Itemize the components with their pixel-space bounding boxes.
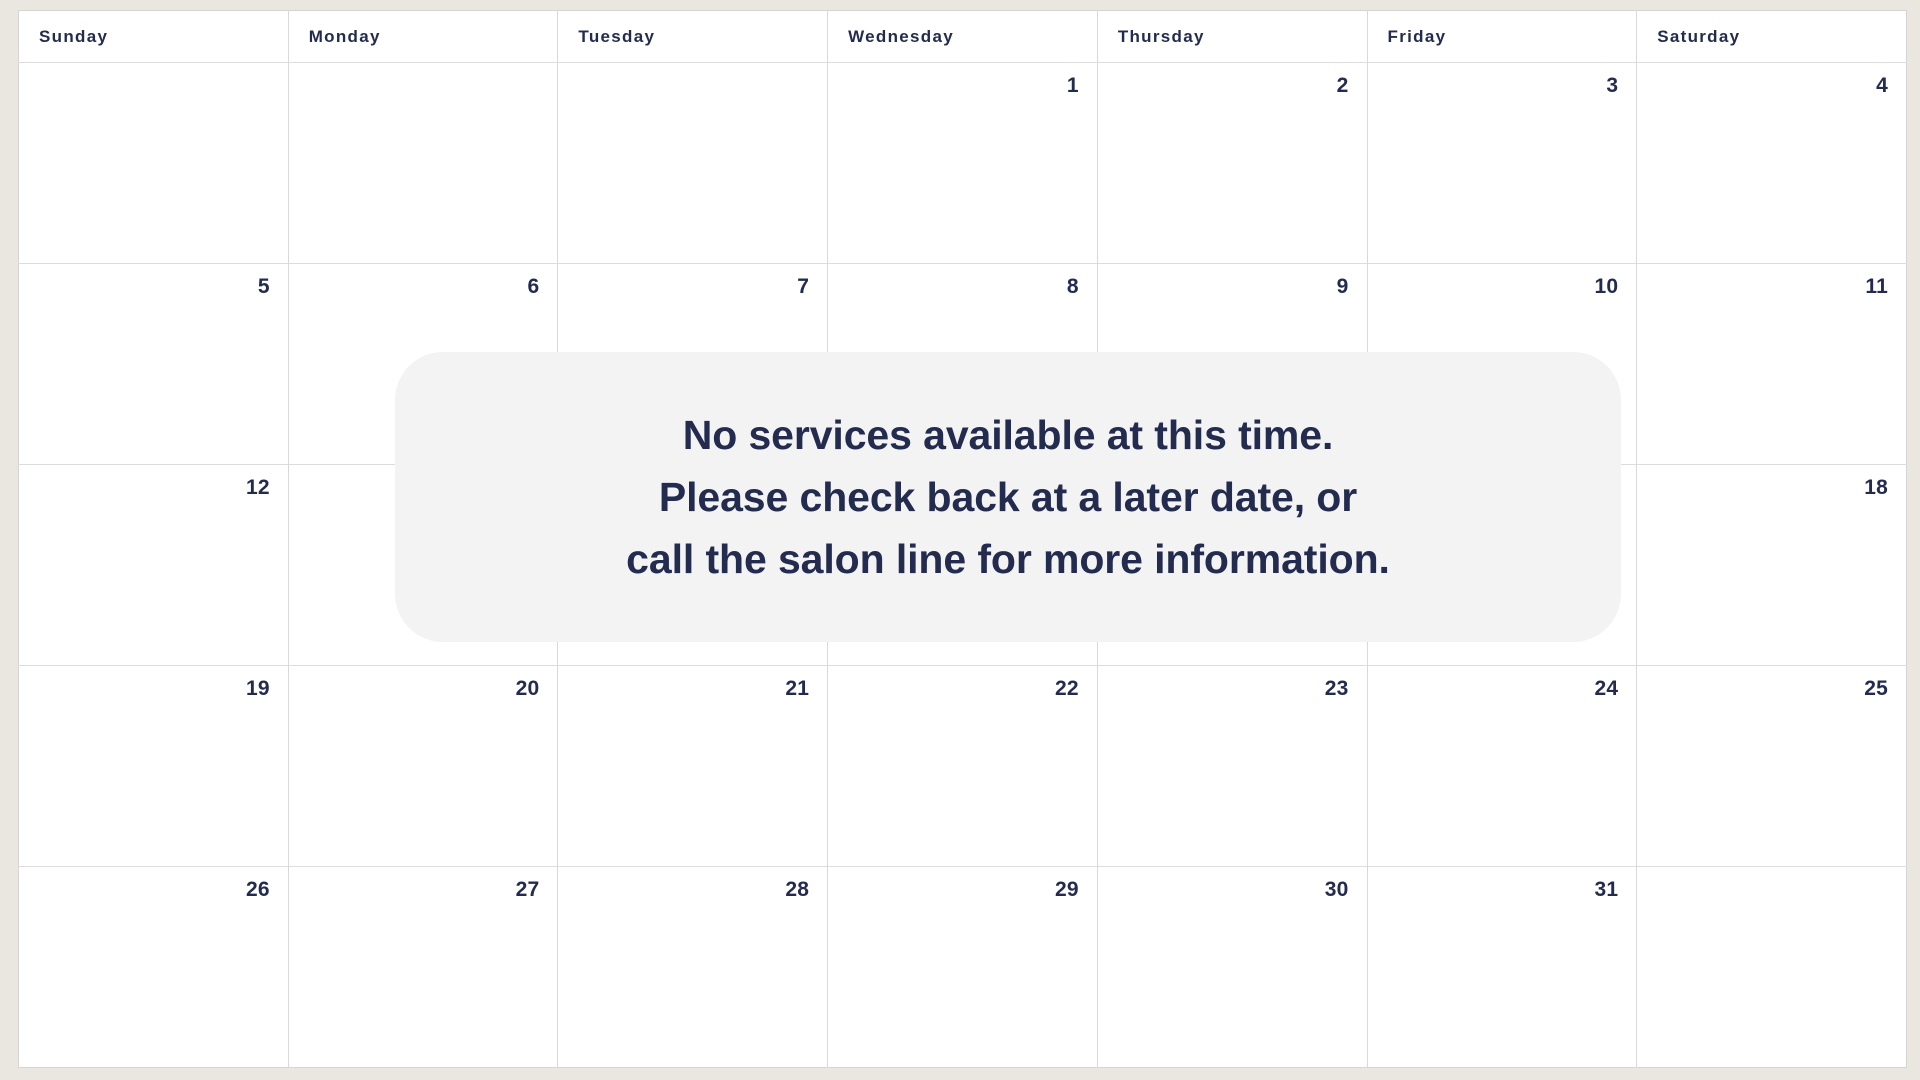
day-number: 1 — [1067, 75, 1079, 96]
calendar-day-cell[interactable]: 31 — [1367, 867, 1637, 1068]
day-number: 22 — [1055, 678, 1079, 699]
day-number: 30 — [1325, 879, 1349, 900]
day-number: 5 — [258, 276, 270, 297]
calendar-day-cell[interactable] — [558, 63, 828, 264]
calendar-day-cell[interactable]: 23 — [1097, 666, 1367, 867]
calendar-day-cell[interactable]: 24 — [1367, 666, 1637, 867]
weekday-header-sunday: Sunday — [19, 11, 289, 63]
calendar-day-cell[interactable]: 29 — [828, 867, 1098, 1068]
day-number: 27 — [516, 879, 540, 900]
calendar-day-cell[interactable]: 30 — [1097, 867, 1367, 1068]
day-number: 28 — [785, 879, 809, 900]
calendar-week-row: 19 20 21 22 23 24 25 — [19, 666, 1907, 867]
calendar-day-cell[interactable]: 20 — [288, 666, 558, 867]
calendar-day-cell[interactable]: 19 — [19, 666, 289, 867]
calendar-header-row: Sunday Monday Tuesday Wednesday Thursday… — [19, 11, 1907, 63]
weekday-header-thursday: Thursday — [1097, 11, 1367, 63]
weekday-header-monday: Monday — [288, 11, 558, 63]
day-number: 2 — [1337, 75, 1349, 96]
day-number: 29 — [1055, 879, 1079, 900]
calendar-day-cell[interactable]: 22 — [828, 666, 1098, 867]
notice-message: No services available at this time. Plea… — [626, 404, 1390, 591]
weekday-header-friday: Friday — [1367, 11, 1637, 63]
notice-line-2: Please check back at a later date, or — [626, 466, 1390, 528]
calendar-day-cell[interactable]: 21 — [558, 666, 828, 867]
notice-line-1: No services available at this time. — [626, 404, 1390, 466]
calendar-day-cell[interactable]: 28 — [558, 867, 828, 1068]
calendar-day-cell[interactable]: 18 — [1637, 465, 1907, 666]
calendar-day-cell[interactable]: 4 — [1637, 63, 1907, 264]
day-number: 10 — [1594, 276, 1618, 297]
calendar-day-cell[interactable]: 5 — [19, 264, 289, 465]
day-number: 4 — [1876, 75, 1888, 96]
calendar-week-row: 1 2 3 4 — [19, 63, 1907, 264]
day-number: 24 — [1594, 678, 1618, 699]
calendar-day-cell[interactable] — [19, 63, 289, 264]
calendar-day-cell[interactable]: 1 — [828, 63, 1098, 264]
weekday-header-tuesday: Tuesday — [558, 11, 828, 63]
day-number: 19 — [246, 678, 270, 699]
calendar-day-cell[interactable] — [288, 63, 558, 264]
calendar-day-cell[interactable]: 27 — [288, 867, 558, 1068]
day-number: 6 — [528, 276, 540, 297]
weekday-header-saturday: Saturday — [1637, 11, 1907, 63]
day-number: 23 — [1325, 678, 1349, 699]
calendar-day-cell[interactable]: 26 — [19, 867, 289, 1068]
calendar-day-cell[interactable]: 11 — [1637, 264, 1907, 465]
weekday-header-wednesday: Wednesday — [828, 11, 1098, 63]
notice-line-3: call the salon line for more information… — [626, 528, 1390, 590]
calendar-day-cell[interactable]: 2 — [1097, 63, 1367, 264]
day-number: 7 — [797, 276, 809, 297]
day-number: 20 — [516, 678, 540, 699]
day-number: 12 — [246, 477, 270, 498]
day-number: 26 — [246, 879, 270, 900]
day-number: 18 — [1864, 477, 1888, 498]
day-number: 11 — [1865, 276, 1888, 297]
day-number: 8 — [1067, 276, 1079, 297]
day-number: 21 — [785, 678, 809, 699]
day-number: 3 — [1606, 75, 1618, 96]
calendar-day-cell[interactable]: 12 — [19, 465, 289, 666]
calendar-day-cell[interactable] — [1637, 867, 1907, 1068]
calendar-week-row: 26 27 28 29 30 31 — [19, 867, 1907, 1068]
day-number: 31 — [1594, 879, 1618, 900]
day-number: 25 — [1864, 678, 1888, 699]
day-number: 9 — [1337, 276, 1349, 297]
calendar-day-cell[interactable]: 25 — [1637, 666, 1907, 867]
no-services-notice: No services available at this time. Plea… — [395, 352, 1621, 642]
calendar-day-cell[interactable]: 3 — [1367, 63, 1637, 264]
